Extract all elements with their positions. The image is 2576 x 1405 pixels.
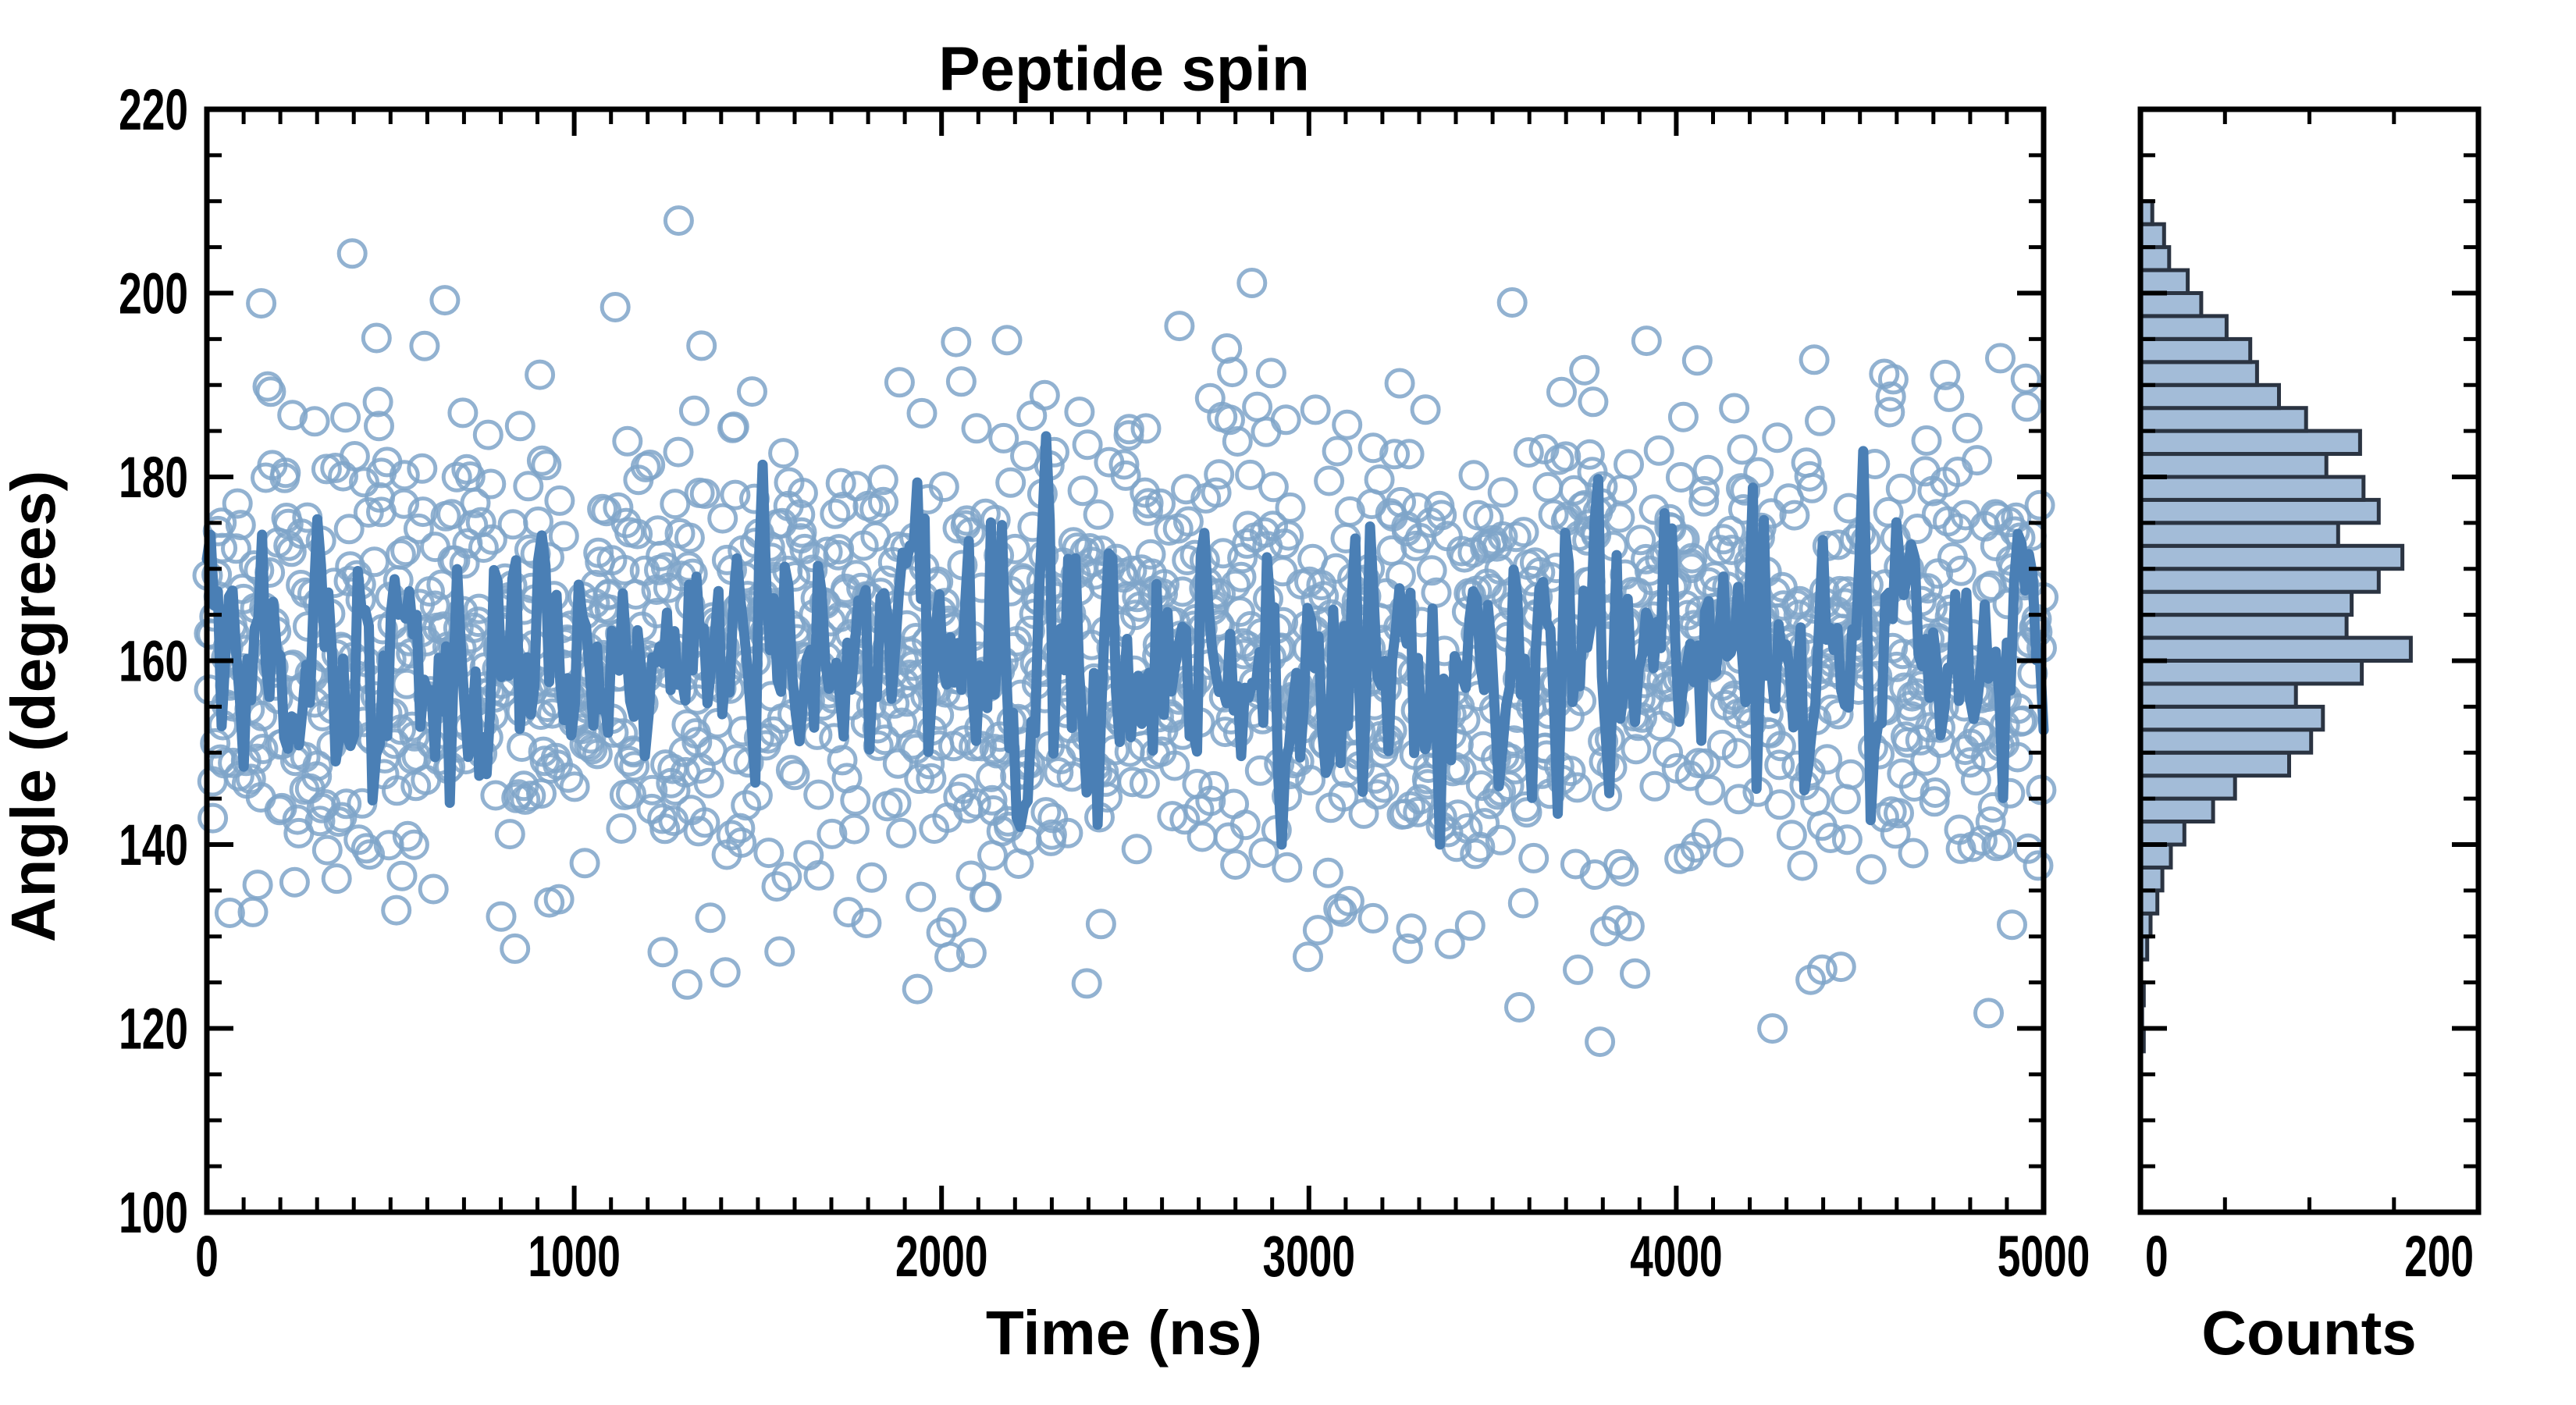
scatter-point [432, 287, 458, 314]
scatter-point [1778, 822, 1805, 848]
scatter-point [1655, 740, 1681, 767]
scatter-point [244, 872, 271, 898]
scatter-point [1888, 475, 1914, 502]
histogram-bar [2140, 293, 2201, 316]
scatter-point [389, 863, 415, 889]
scatter-point [806, 781, 832, 808]
scatter-point [1670, 404, 1696, 430]
scatter-point [674, 971, 700, 998]
scatter-point [681, 397, 707, 424]
scatter-point [1976, 1000, 2002, 1026]
scatter-point [1189, 823, 1215, 850]
histogram-bar [2140, 523, 2338, 546]
scatter-point [973, 884, 1000, 910]
histogram-bar [2140, 362, 2257, 385]
scatter-point [1334, 411, 1361, 438]
scatter-point [314, 837, 340, 863]
histogram-tick-labels: 0200 [2145, 1224, 2474, 1289]
scatter-point [500, 511, 526, 538]
histogram-bar [2140, 339, 2250, 361]
scatter-point [281, 869, 308, 895]
scatter-point [1197, 385, 1223, 411]
scatter-point [1697, 777, 1724, 803]
scatter-point [720, 414, 747, 440]
histogram-bar [2140, 661, 2362, 684]
scatter-point [1900, 840, 1927, 866]
scatter-point [649, 939, 676, 966]
scatter-point [1827, 954, 1854, 980]
scatter-point [1715, 839, 1742, 866]
scatter-point [943, 329, 970, 355]
scatter-point [1609, 476, 1635, 503]
scatter-point [842, 787, 869, 813]
scatter-point [888, 820, 915, 846]
scatter-point [361, 549, 388, 575]
scatter-point [1913, 427, 1940, 454]
scatter-point [608, 816, 635, 842]
scatter-point [688, 333, 715, 359]
histogram-bar [2140, 730, 2311, 752]
scatter-point [1166, 313, 1193, 340]
scatter-point [1642, 773, 1668, 799]
histogram-bar [2140, 431, 2360, 454]
scatter-point [1834, 827, 1860, 853]
scatter-point [886, 369, 913, 396]
scatter-point [756, 840, 782, 866]
x-tick-label: 2000 [895, 1224, 988, 1289]
scatter-point [1587, 1029, 1614, 1055]
histogram-bar [2140, 799, 2213, 821]
x-axis-tick-labels: 010002000300040005000 [195, 1224, 2090, 1289]
y-tick-label: 200 [119, 261, 188, 326]
scatter-point [1360, 905, 1386, 931]
scatter-point [1633, 328, 1660, 354]
scatter-point [1304, 917, 1331, 944]
scatter-point [676, 525, 703, 551]
scatter-point [1366, 467, 1393, 493]
scatter-point [1880, 366, 1906, 393]
scatter-point [1031, 382, 1058, 408]
scatter-point [843, 473, 870, 500]
scatter-point [1350, 800, 1377, 827]
scatter-point [1521, 845, 1547, 871]
scatter-point [1133, 415, 1159, 442]
scatter-point [1244, 393, 1271, 420]
scatter-point [1324, 438, 1350, 464]
histogram-panel: 0200 [2140, 109, 2478, 1289]
scatter-point [904, 976, 930, 1002]
scatter-point [948, 368, 974, 395]
y-tick-label: 160 [119, 629, 188, 694]
scatter-point [1564, 774, 1591, 801]
scatter-point [571, 850, 598, 877]
scatter-point [614, 428, 641, 454]
scatter-point [1457, 912, 1483, 939]
scatter-point [1507, 994, 1533, 1021]
scatter-point [1510, 890, 1536, 916]
scatter-point [323, 866, 350, 892]
scatter-point [1571, 357, 1598, 383]
scatter-point [1123, 836, 1150, 863]
histogram-bar [2140, 316, 2226, 339]
scatter-point [1759, 1016, 1786, 1042]
scatter-point [1616, 451, 1642, 478]
scatter-point [1832, 786, 1859, 813]
main-scatter-panel: 010002000300040005000 100120140160180200… [119, 77, 2090, 1289]
histogram-bar [2140, 500, 2379, 522]
histogram-bar [2140, 546, 2403, 568]
page-title: Peptide spin [938, 34, 1310, 104]
histogram-bar [2140, 592, 2352, 614]
x-axis-label: Time (ns) [986, 1298, 1262, 1368]
scatter-point [998, 469, 1024, 496]
scatter-point [1729, 436, 1756, 463]
y-axis-label: Angle (degrees) [0, 471, 68, 943]
scatter-point [339, 240, 365, 267]
scatter-point [602, 294, 628, 321]
scatter-point [1622, 960, 1649, 987]
scatter-point [822, 500, 849, 527]
y-tick-label: 140 [119, 813, 188, 877]
scatter-point [1412, 397, 1439, 423]
histogram-bar [2140, 845, 2171, 867]
scatter-point [1499, 290, 1525, 316]
scatter-point [1489, 479, 1516, 506]
scatter-point [546, 487, 573, 514]
histogram-bar [2140, 408, 2306, 431]
scatter-point [1315, 859, 1341, 886]
scatter-point [1999, 912, 2026, 938]
scatter-point [859, 864, 885, 891]
scatter-point [409, 455, 436, 482]
scatter-point [2013, 393, 2040, 420]
histogram-x-tick-label: 0 [2145, 1224, 2169, 1289]
scatter-point [363, 325, 390, 351]
scatter-point [1987, 345, 2014, 372]
scatter-point [411, 333, 438, 359]
histogram-bar [2140, 224, 2164, 247]
scatter-point [1838, 761, 1864, 788]
scatter-point [767, 938, 793, 965]
histogram-bar [2140, 684, 2296, 706]
histogram-bar [2140, 776, 2235, 799]
scatter-point [2026, 492, 2053, 518]
scatter-point [1055, 820, 1081, 846]
scatter-point [1206, 461, 1233, 488]
scatter-point [1721, 395, 1748, 421]
scatter-point [333, 404, 359, 431]
figure-root: Peptide spin 010002000300040005000 10012… [0, 0, 2576, 1405]
scatter-point [502, 935, 528, 962]
scatter-point [496, 821, 523, 848]
scatter-point [1274, 854, 1300, 880]
scatter-point [1549, 379, 1575, 405]
scatter-point [450, 400, 476, 426]
scatter-point [1253, 418, 1279, 445]
histogram-x-tick-label: 200 [2404, 1224, 2474, 1289]
scatter-point [1964, 447, 1991, 474]
scatter-point [712, 959, 738, 986]
scatter-point [1764, 425, 1791, 451]
histogram-bar [2140, 569, 2379, 592]
histogram-bar [2140, 615, 2347, 638]
histogram-bar [2140, 270, 2188, 293]
histogram-bar [2140, 385, 2279, 407]
scatter-point [1386, 370, 1413, 397]
scatter-point [1461, 462, 1487, 489]
scatter-point [488, 903, 514, 930]
scatter-point [665, 439, 692, 465]
scatter-point [1222, 852, 1249, 878]
scatter-point [1565, 956, 1592, 983]
scatter-point [383, 897, 410, 923]
scatter-point [1745, 459, 1772, 486]
histogram-bar [2140, 454, 2326, 477]
y-tick-label: 120 [119, 997, 188, 1062]
scatter-point [662, 491, 688, 518]
scatter-point [1767, 791, 1793, 818]
histogram-bar [2140, 638, 2411, 660]
histogram-bars [2140, 201, 2411, 1051]
scatter-point [908, 884, 934, 910]
scatter-point [1085, 501, 1112, 528]
scatter-point [420, 876, 447, 902]
scatter-point [1684, 347, 1710, 374]
scatter-point [527, 361, 553, 388]
scatter-point [994, 327, 1020, 354]
histogram-x-axis-label: Counts [2201, 1298, 2417, 1368]
histogram-bar [2140, 822, 2184, 845]
y-tick-label: 100 [119, 1180, 188, 1245]
scatter-point [550, 523, 577, 550]
scatter-point [525, 508, 552, 535]
scatter-point [1258, 360, 1284, 386]
scatter-point [1069, 478, 1096, 504]
peptide-spin-figure: Peptide spin 010002000300040005000 10012… [0, 0, 2576, 1405]
scatter-point [1302, 397, 1329, 423]
scatter-point [1087, 911, 1114, 937]
scatter-point [1535, 474, 1561, 500]
scatter-point [1316, 468, 1343, 494]
scatter-point [739, 379, 766, 405]
scatter-point [400, 831, 427, 858]
scatter-point [1789, 852, 1816, 879]
x-tick-label: 4000 [1630, 1224, 1723, 1289]
y-tick-label: 180 [119, 445, 188, 510]
scatter-point [1239, 270, 1265, 297]
scatter-point [1277, 494, 1304, 521]
scatter-point [248, 290, 275, 317]
scatter-point [1858, 856, 1884, 883]
scatter-point [1073, 970, 1100, 997]
histogram-bar [2140, 247, 2169, 270]
scatter-point [1807, 407, 1834, 434]
histogram-bar [2140, 867, 2162, 890]
scatter-point [341, 443, 368, 470]
scatter-point [1610, 858, 1637, 884]
x-tick-label: 0 [195, 1224, 219, 1289]
scatter-point [1954, 414, 1980, 441]
x-tick-label: 3000 [1263, 1224, 1356, 1289]
scatter-point [200, 805, 226, 831]
histogram-bar [2140, 706, 2323, 729]
scatter-point [2012, 365, 2039, 392]
y-tick-label: 220 [119, 77, 188, 142]
scatter-point [475, 421, 501, 448]
scatter-point [507, 413, 533, 439]
histogram-bar [2140, 752, 2290, 775]
x-tick-label: 1000 [528, 1224, 621, 1289]
y-axis-tick-labels: 100120140160180200220 [119, 77, 188, 1245]
x-tick-label: 5000 [1998, 1224, 2090, 1289]
scatter-point [963, 415, 990, 442]
scatter-point [561, 774, 588, 800]
scatter-point [1066, 399, 1093, 425]
scatter-point [1646, 437, 1672, 464]
scatter-point [1580, 389, 1606, 415]
scatter-point [1295, 944, 1322, 970]
scatter-point [1801, 347, 1827, 373]
scatter-point [722, 482, 749, 508]
scatter-point [1272, 407, 1299, 433]
scatter-point [770, 440, 797, 467]
scatter-point [697, 905, 724, 931]
scatter-point [665, 208, 692, 234]
scatter-point [909, 400, 935, 426]
histogram-bar [2140, 477, 2364, 500]
scatter-point [1364, 781, 1391, 808]
